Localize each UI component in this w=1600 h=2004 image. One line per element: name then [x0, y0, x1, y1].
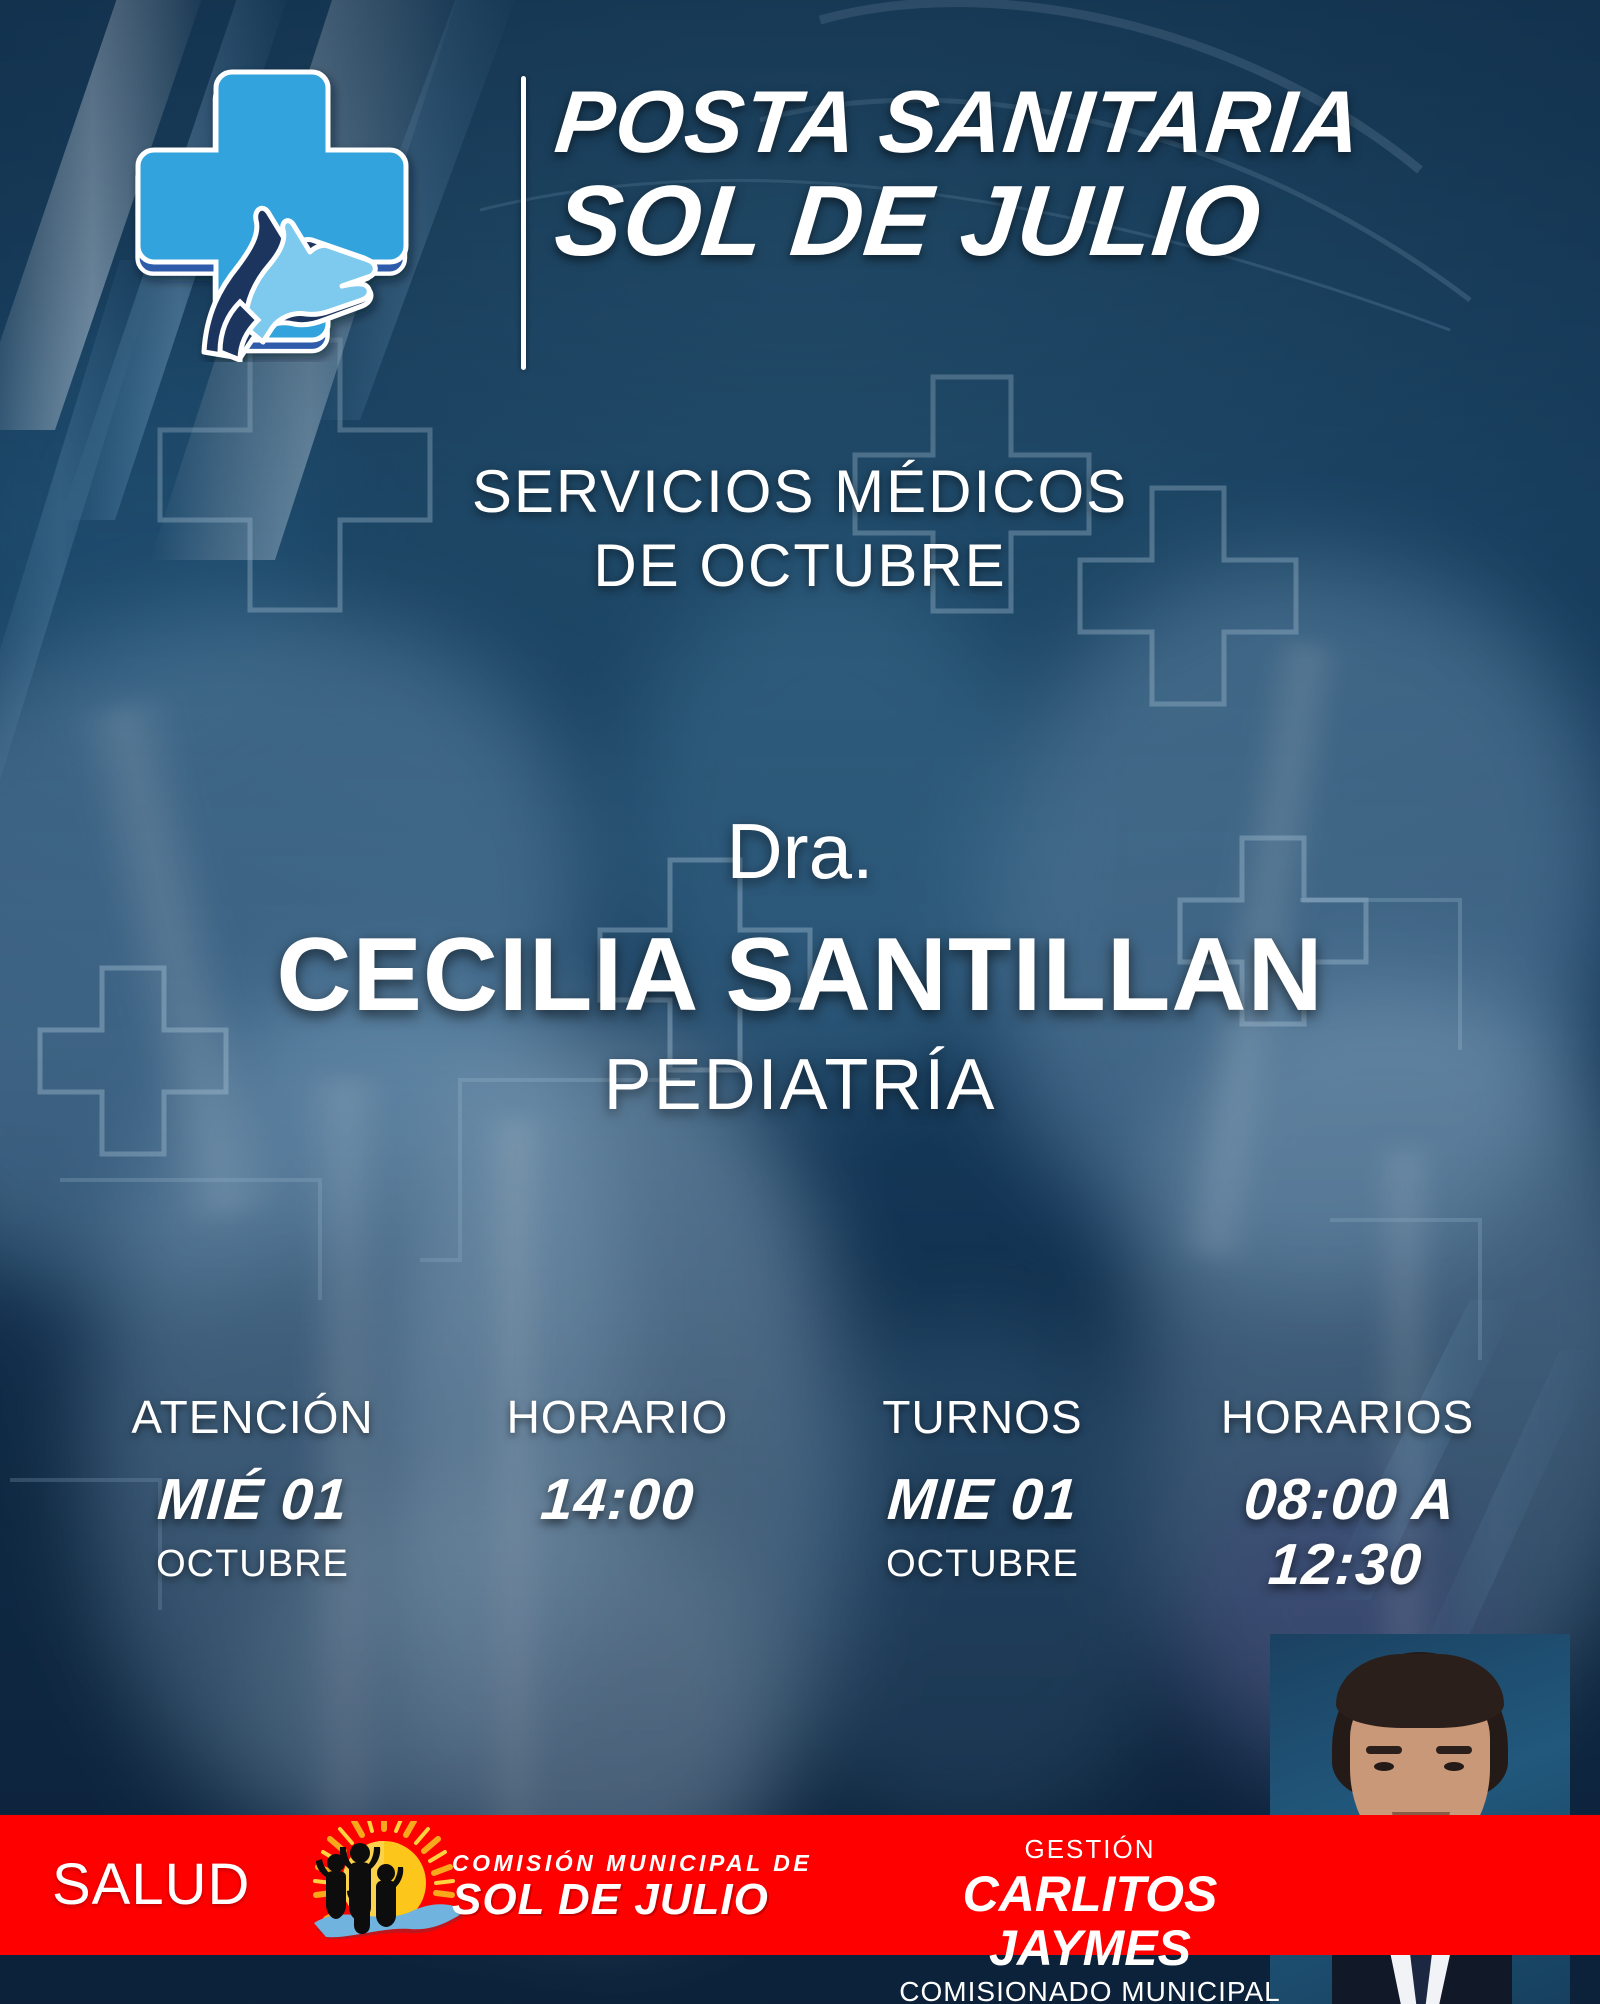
municipal-wordmark: COMISIÓN MUNICIPAL DE SOL DE JULIO	[452, 1851, 812, 1923]
medical-cross-hands-icon	[128, 52, 428, 362]
municipal-line2: SOL DE JULIO	[452, 1877, 812, 1923]
gestion-block: GESTIÓN CARLITOS JAYMES COMISIONADO MUNI…	[880, 1835, 1300, 2004]
schedule-value: MIÉ 01	[68, 1468, 438, 1533]
subtitle-block: SERVICIOS MÉDICOS DE OCTUBRE	[0, 455, 1600, 604]
doctor-prefix: Dra.	[0, 805, 1600, 899]
municipal-line1: COMISIÓN MUNICIPAL DE	[452, 1851, 812, 1876]
poster-canvas: POSTA SANITARIA SOL DE JULIO SERVICIOS M…	[0, 0, 1600, 2004]
gestion-role: COMISIONADO MUNICIPAL	[880, 1977, 1300, 2004]
schedule-value: MIE 01	[798, 1468, 1168, 1533]
subtitle-line2: DE OCTUBRE	[0, 529, 1600, 603]
doctor-name: CECILIA SANTILLAN	[0, 921, 1600, 1030]
schedule-head: ATENCIÓN	[70, 1390, 435, 1444]
schedule-row: ATENCIÓN MIÉ 01 OCTUBRE HORARIO 14:00 TU…	[70, 1390, 1530, 1608]
schedule-col-atencion: ATENCIÓN MIÉ 01 OCTUBRE	[70, 1390, 435, 1608]
footer-bar: SALUD	[0, 1815, 1600, 1955]
brand-title: POSTA SANITARIA SOL DE JULIO	[556, 76, 1556, 272]
sun-family-wave-icon	[292, 1821, 472, 1953]
gestion-label: GESTIÓN	[880, 1835, 1300, 1864]
subtitle-line1: SERVICIOS MÉDICOS	[0, 455, 1600, 529]
schedule-sub: OCTUBRE	[70, 1543, 435, 1586]
schedule-col-horario: HORARIO 14:00	[435, 1390, 800, 1608]
salud-label: SALUD	[52, 1851, 250, 1918]
schedule-col-horarios: HORARIOS 08:00 A 12:30	[1165, 1390, 1530, 1608]
schedule-sub: OCTUBRE	[800, 1543, 1165, 1586]
schedule-head: TURNOS	[800, 1390, 1165, 1444]
header-divider	[521, 76, 526, 370]
doctor-specialty: PEDIATRÍA	[0, 1044, 1600, 1127]
schedule-head: HORARIO	[435, 1390, 800, 1444]
header: POSTA SANITARIA SOL DE JULIO	[0, 28, 1600, 338]
schedule-col-turnos: TURNOS MIE 01 OCTUBRE	[800, 1390, 1165, 1608]
gestion-name: CARLITOS JAYMES	[880, 1867, 1300, 1975]
brand-line2: SOL DE JULIO	[551, 170, 1562, 272]
schedule-head: HORARIOS	[1165, 1390, 1530, 1444]
doctor-block: Dra. CECILIA SANTILLAN PEDIATRÍA	[0, 805, 1600, 1127]
brand-line1: POSTA SANITARIA	[551, 76, 1561, 168]
schedule-value: 08:00 A 12:30	[1160, 1468, 1534, 1598]
schedule-value: 14:00	[433, 1468, 803, 1533]
